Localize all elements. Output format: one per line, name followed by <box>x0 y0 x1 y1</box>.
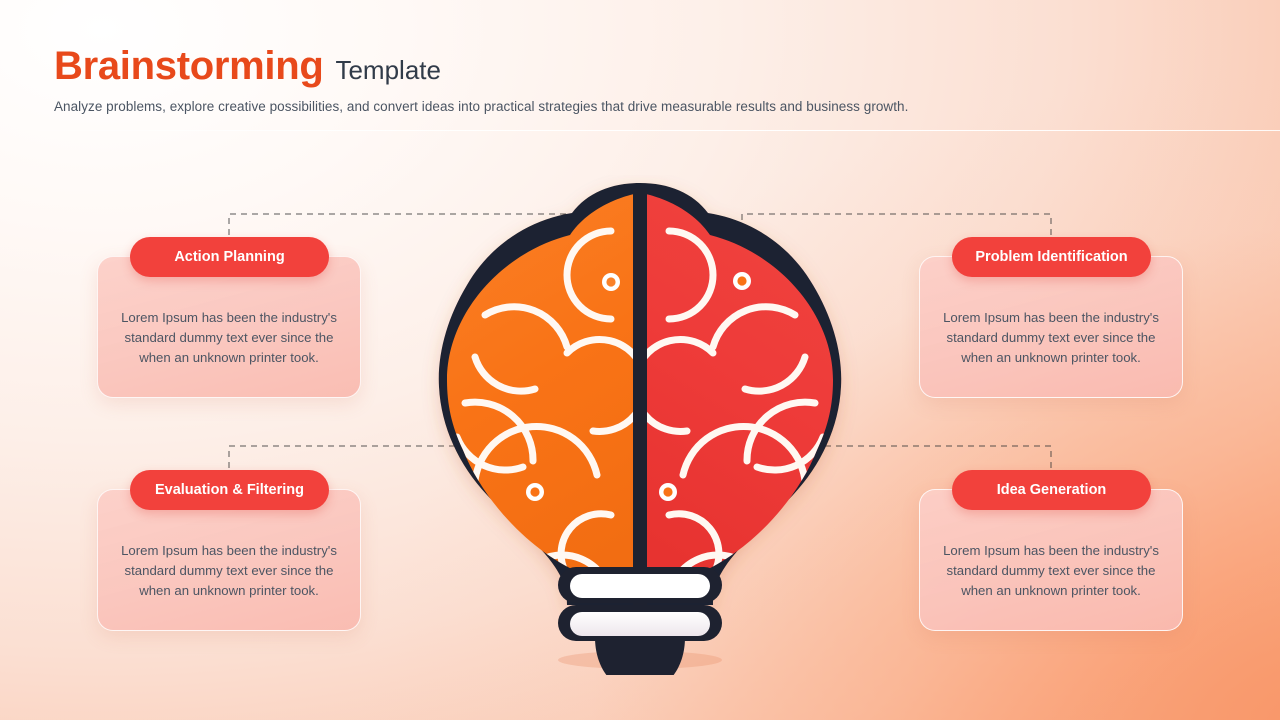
card-label-problem-identification[interactable]: Problem Identification <box>952 237 1151 277</box>
bulb-contact-cap <box>595 637 685 675</box>
card-label-action-planning[interactable]: Action Planning <box>130 237 329 277</box>
card-body-problem-identification: Lorem Ipsum has been the industry's stan… <box>938 308 1164 368</box>
brain-lightbulb-icon <box>415 175 865 675</box>
card-problem-identification[interactable]: Lorem Ipsum has been the industry's stan… <box>919 256 1183 398</box>
header-divider <box>0 130 1280 131</box>
bulb-band-upper <box>570 574 710 598</box>
brain-center-divider <box>633 189 647 607</box>
card-evaluation-filtering[interactable]: Lorem Ipsum has been the industry's stan… <box>97 489 361 631</box>
card-body-idea-generation: Lorem Ipsum has been the industry's stan… <box>938 541 1164 601</box>
card-label-idea-generation[interactable]: Idea Generation <box>952 470 1151 510</box>
card-body-evaluation-filtering: Lorem Ipsum has been the industry's stan… <box>116 541 342 601</box>
title-sub: Template <box>335 55 441 86</box>
title-main: Brainstorming <box>54 44 323 88</box>
bulb-band-lower <box>570 612 710 636</box>
card-action-planning[interactable]: Lorem Ipsum has been the industry's stan… <box>97 256 361 398</box>
card-label-evaluation-filtering[interactable]: Evaluation & Filtering <box>130 470 329 510</box>
page-subtitle: Analyze problems, explore creative possi… <box>54 99 1234 114</box>
page-header: Brainstorming Template Analyze problems,… <box>54 44 1234 114</box>
page-title: Brainstorming Template <box>54 44 1234 88</box>
card-body-action-planning: Lorem Ipsum has been the industry's stan… <box>116 308 342 368</box>
card-idea-generation[interactable]: Lorem Ipsum has been the industry's stan… <box>919 489 1183 631</box>
